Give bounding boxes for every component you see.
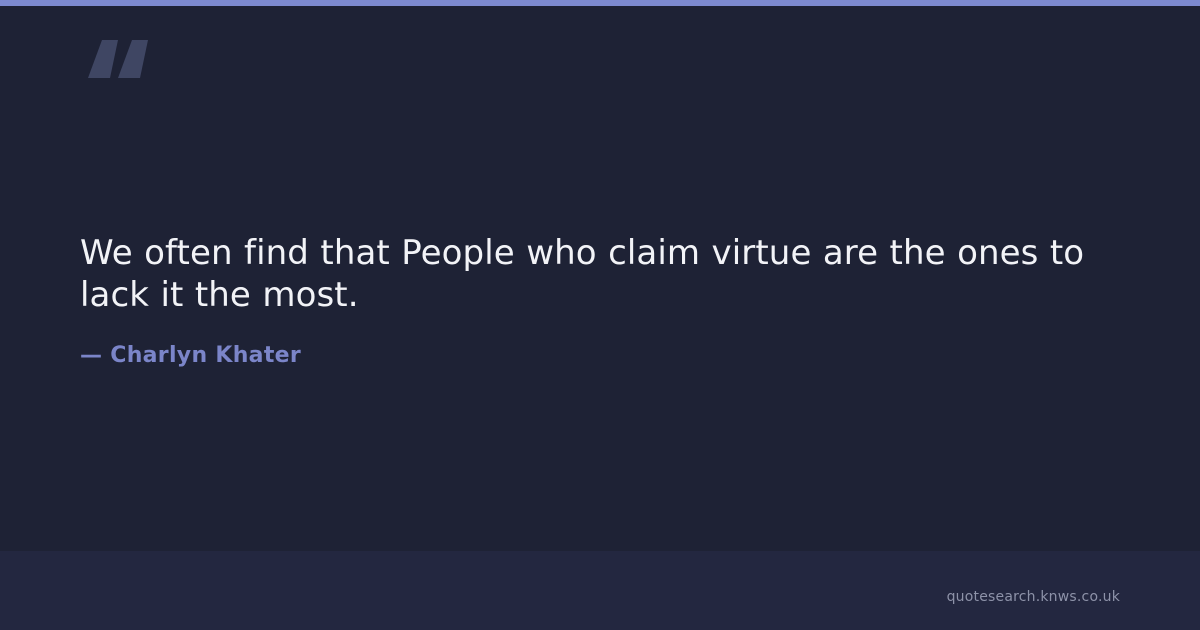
quote-author: — Charlyn Khater bbox=[80, 316, 1130, 370]
quote-content: We often find that People who claim virt… bbox=[80, 232, 1130, 370]
quote-card: We often find that People who claim virt… bbox=[0, 0, 1200, 630]
site-watermark: quotesearch.knws.co.uk bbox=[947, 588, 1120, 606]
open-quote-icon bbox=[80, 22, 200, 92]
quote-text: We often find that People who claim virt… bbox=[80, 232, 1130, 316]
top-accent-bar bbox=[0, 0, 1200, 6]
